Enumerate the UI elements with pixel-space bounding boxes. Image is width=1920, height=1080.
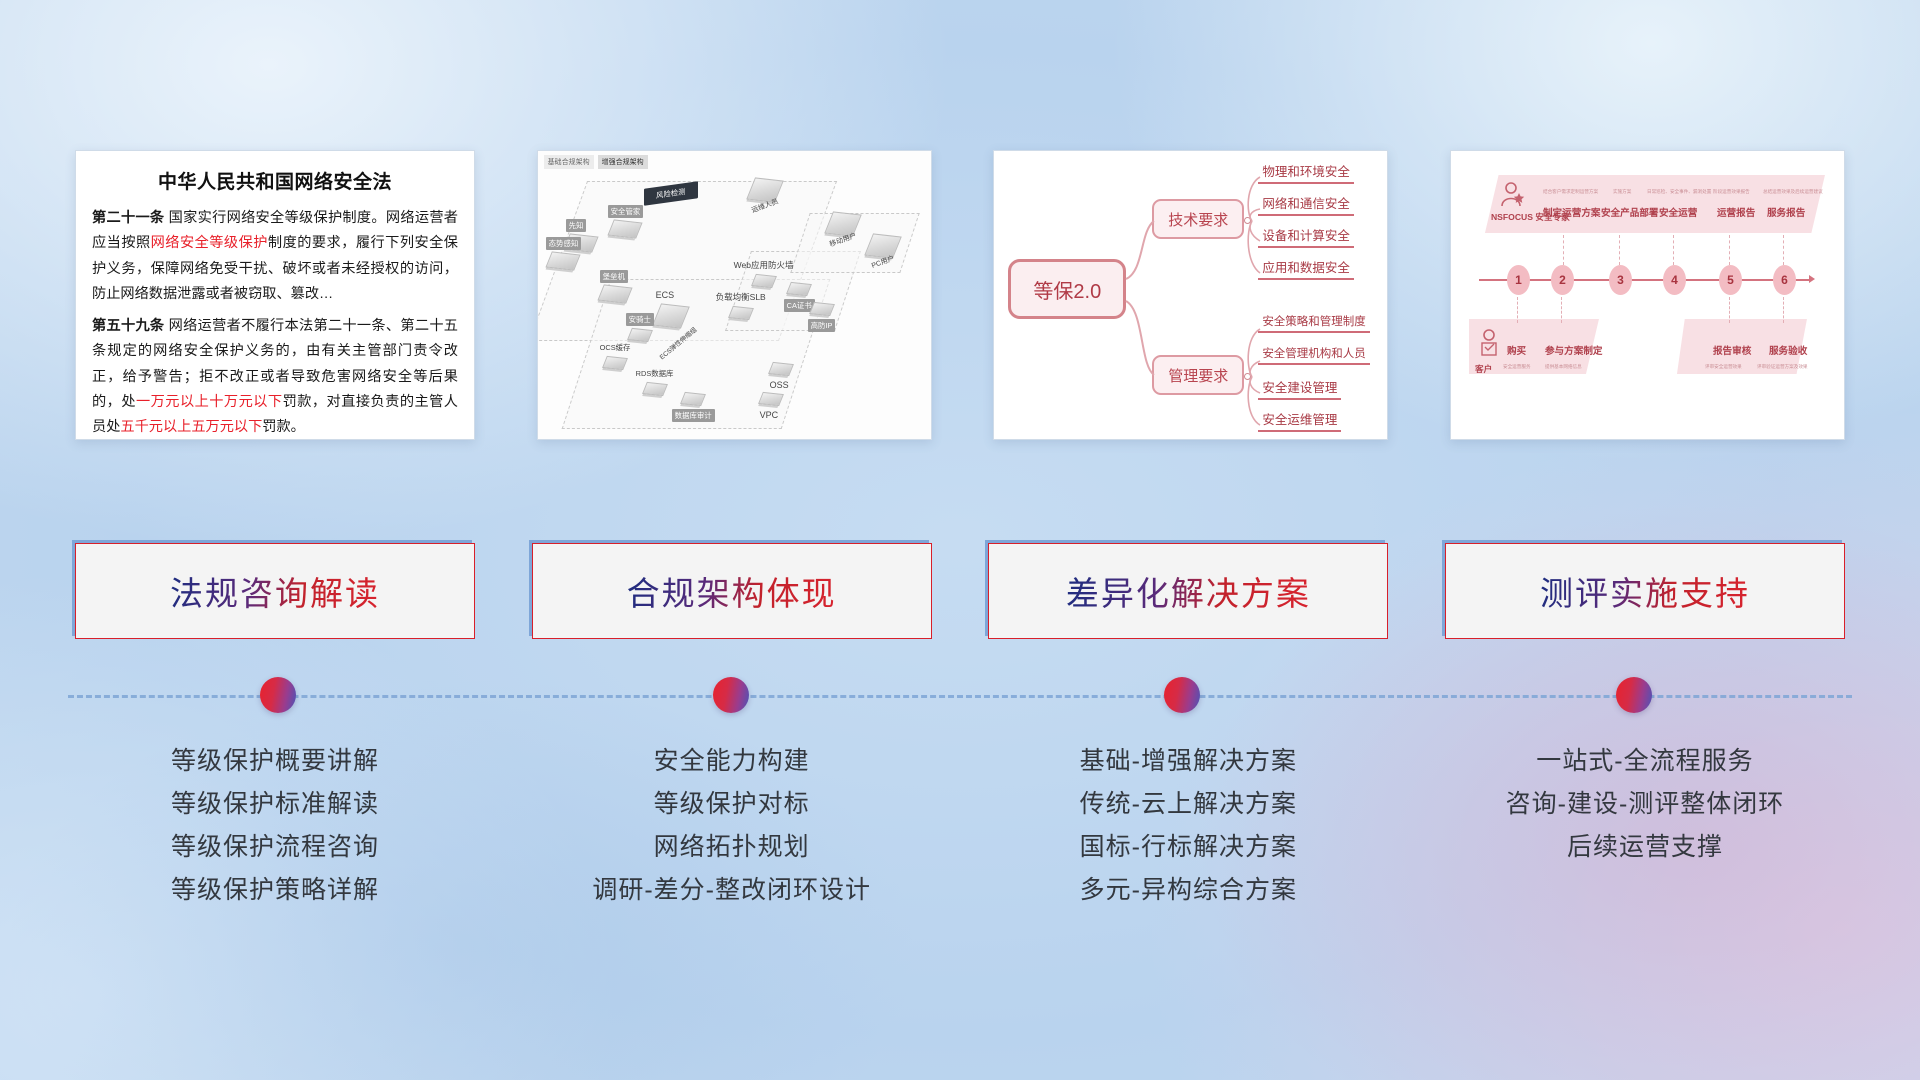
card-dengbao-mindmap: 等保2.0 技术要求 物理和环境安全 网络和通信安全 设备和计算安全 应用和数据… [993, 150, 1388, 440]
list-item: 等级保护概要讲解 [75, 740, 475, 783]
node-label: 态势感知 [546, 237, 582, 250]
list-item: 咨询-建设-测评整体闭环 [1445, 783, 1845, 826]
list-item: 调研-差分-整改闭环设计 [532, 869, 932, 912]
expert-step-sub: 阶段运营效果报告 [1713, 189, 1750, 195]
list-item: 等级保护标准解读 [75, 783, 475, 826]
mindmap-branch-technical: 技术要求 [1152, 199, 1244, 239]
cube-icon [768, 362, 794, 376]
cube-icon [786, 282, 812, 296]
cube-icon [608, 219, 643, 238]
list-item: 后续运营支撑 [1445, 826, 1845, 869]
mindmap-leaf: 安全策略和管理制度 [1258, 313, 1370, 333]
cube-icon [809, 302, 835, 316]
cube-icon [680, 392, 706, 406]
node-risk-detection: 风险检测 [644, 183, 698, 202]
flow-dash-link [1619, 235, 1620, 265]
headline-label: 法规咨询解读 [170, 567, 380, 615]
node-rds-database: RDS数据库 [636, 363, 674, 395]
node-pc-user: PC用户 [868, 233, 898, 267]
timeline-dot-1 [260, 677, 296, 713]
cube-icon [758, 392, 784, 406]
mindmap-leaf: 设备和计算安全 [1258, 225, 1354, 248]
cube-icon [602, 356, 628, 370]
node-label: Web应用防火墙 [734, 259, 794, 271]
customer-step-main: 参与方案制定 [1545, 343, 1603, 357]
headline-box-solution[interactable]: 差异化解决方案 [988, 543, 1388, 639]
headline-box-architecture[interactable]: 合规架构体现 [532, 543, 932, 639]
expert-banner [1485, 175, 1825, 233]
detail-column-row: 等级保护概要讲解 等级保护标准解读 等级保护流程咨询 等级保护策略详解 安全能力… [0, 740, 1920, 912]
node-label: 先知 [566, 219, 587, 232]
media-card-row: 中华人民共和国网络安全法 第二十一条 国家实行网络安全等级保护制度。网络运营者应… [0, 150, 1920, 440]
expert-step-main: 服务报告 [1767, 205, 1805, 219]
expert-step-sub: 日常巡检、安全事件、漏洞处置 [1647, 189, 1711, 195]
customer-step-main: 报告审核 [1713, 343, 1751, 357]
detail-column-architecture: 安全能力构建 等级保护对标 网络拓扑规划 调研-差分-整改闭环设计 [532, 740, 932, 912]
mindmap-leaf: 应用和数据安全 [1258, 257, 1354, 280]
node-label: 堡垒机 [600, 270, 628, 283]
node-label: OCS缓存 [600, 342, 631, 353]
flow-step-node: 3 [1609, 265, 1632, 295]
node-anti-ddos-ip: 高防IP [808, 301, 836, 333]
timeline [68, 694, 1852, 697]
flow-step-node: 4 [1663, 265, 1686, 295]
card-nsfocus-service-flow: NSFOCUS 安全专家 结合客户需求定制运营方案 制定运营方案 实施方案 安全… [1450, 150, 1845, 440]
law-run-highlight: 五千元以上五万元以下 [120, 419, 262, 435]
expert-step-main: 运营报告 [1717, 205, 1755, 219]
list-item: 传统-云上解决方案 [988, 783, 1388, 826]
card-cybersecurity-law: 中华人民共和国网络安全法 第二十一条 国家实行网络安全等级保护制度。网络运营者应… [75, 150, 475, 440]
cube-icon [627, 328, 653, 342]
mindmap-leaf: 安全管理机构和人员 [1258, 345, 1370, 365]
timeline-dot-3 [1164, 677, 1200, 713]
flow-axis-arrow [1809, 275, 1815, 283]
node-label: VPC [760, 410, 779, 420]
mindmap-connector-dot [1244, 217, 1251, 224]
cube-icon [728, 306, 754, 320]
mindmap-leaf: 安全建设管理 [1258, 377, 1341, 400]
list-item: 等级保护策略详解 [75, 869, 475, 912]
node-label: 负载均衡SLB [716, 291, 766, 303]
customer-person-icon [1475, 327, 1509, 365]
architecture-tabs: 基础合规架构 增强合规架构 [544, 155, 648, 169]
customer-step-main: 购买 [1507, 343, 1526, 357]
list-item: 基础-增强解决方案 [988, 740, 1388, 783]
node-label: 安全管家 [608, 205, 644, 218]
node-vpc: VPC [760, 391, 782, 423]
node-label: RDS数据库 [636, 368, 674, 379]
mindmap-connector-dot [1244, 373, 1251, 380]
expert-step-sub: 结合客户需求定制运营方案 [1543, 189, 1598, 195]
cube-icon [597, 284, 632, 303]
list-item: 一站式-全流程服务 [1445, 740, 1845, 783]
list-item: 国标-行标解决方案 [988, 826, 1388, 869]
detail-column-regulation: 等级保护概要讲解 等级保护标准解读 等级保护流程咨询 等级保护策略详解 [75, 740, 475, 912]
flow-dash-link [1517, 297, 1518, 323]
law-paragraph-1: 第二十一条 国家实行网络安全等级保护制度。网络运营者应当按照网络安全等级保护制度… [92, 206, 458, 307]
flow-dash-link [1561, 297, 1562, 323]
node-slb: 负载均衡SLB [716, 287, 766, 319]
mindmap-root: 等保2.0 [1008, 259, 1126, 319]
node-mobile-user: 移动用户 [828, 211, 858, 245]
node-ecs: ECS [656, 285, 686, 327]
node-label: 数据库审计 [672, 409, 715, 422]
timeline-dot-4 [1616, 677, 1652, 713]
expert-step-main: 制定运营方案 [1543, 205, 1601, 219]
mindmap-branch-management: 管理要求 [1152, 355, 1244, 395]
tab-enhanced-architecture[interactable]: 增强合规架构 [598, 155, 648, 169]
list-item: 安全能力构建 [532, 740, 932, 783]
node-label: ECS [656, 290, 675, 300]
headline-label: 差异化解决方案 [1066, 567, 1311, 615]
customer-step-sub: 提供基本网络信息 [1545, 364, 1582, 370]
law-paragraph-2: 第五十九条 网络运营者不履行本法第二十一条、第二十五条规定的网络安全保护义务的，… [92, 314, 458, 440]
customer-step-main: 服务验收 [1769, 343, 1807, 357]
detail-column-solution: 基础-增强解决方案 传统-云上解决方案 国标-行标解决方案 多元-异构综合方案 [988, 740, 1388, 912]
cube-icon [751, 274, 777, 288]
node-label: 安骑士 [626, 313, 654, 326]
flow-dash-link [1563, 235, 1564, 265]
list-item: 等级保护对标 [532, 783, 932, 826]
node-bastion-host: 堡垒机 [600, 266, 630, 302]
customer-step-sub: 安全运营服务 [1503, 364, 1531, 370]
flow-step-node: 5 [1719, 265, 1742, 295]
list-item: 等级保护流程咨询 [75, 826, 475, 869]
customer-step-sub: 评审安全运营效果 [1705, 364, 1742, 370]
cube-icon [546, 251, 581, 270]
flow-step-node: 1 [1507, 265, 1530, 295]
node-label: OSS [770, 380, 789, 390]
flow-dash-link [1783, 235, 1784, 265]
law-run-highlight: 网络安全等级保护 [151, 235, 268, 251]
expert-step-sub: 总结运营效果及后续运营建议 [1763, 189, 1823, 195]
customer-step-sub: 评审验证运营方案及效果 [1757, 364, 1808, 370]
cube-icon [642, 382, 668, 396]
expert-step-main: 安全产品部署 [1601, 205, 1659, 219]
timeline-line [68, 695, 1852, 698]
law-article-label: 第二十一条 [92, 210, 164, 226]
mindmap-leaf: 网络和通信安全 [1258, 193, 1354, 216]
node-operations-staff: 运维人员 [750, 177, 780, 211]
headline-label: 合规架构体现 [627, 567, 837, 615]
headline-row: 法规咨询解读 合规架构体现 差异化解决方案 测评实施支持 [0, 543, 1920, 639]
law-article-label: 第五十九条 [92, 318, 164, 334]
node-ocs-cache: OCS缓存 [600, 337, 631, 369]
node-security-butler: 安全管家 [608, 201, 644, 237]
customer-role-label: 客户 [1475, 363, 1492, 375]
list-item: 多元-异构综合方案 [988, 869, 1388, 912]
card-compliance-architecture: 基础合规架构 增强合规架构 风险检测 安全管家 先知 态势感知 堡垒机 ECS … [537, 150, 932, 440]
tab-basic-architecture[interactable]: 基础合规架构 [544, 155, 594, 169]
headline-box-regulation[interactable]: 法规咨询解读 [75, 543, 475, 639]
expert-step-main: 安全运营 [1659, 205, 1697, 219]
mindmap-leaf: 物理和环境安全 [1258, 161, 1354, 184]
law-run: 罚款。 [262, 419, 305, 435]
detail-column-evaluation: 一站式-全流程服务 咨询-建设-测评整体闭环 后续运营支撑 [1445, 740, 1845, 912]
expert-step-sub: 实施方案 [1613, 189, 1631, 195]
node-situation-awareness: 态势感知 [546, 233, 582, 269]
mindmap-leaf: 安全运维管理 [1258, 409, 1341, 432]
law-run-highlight: 一万元以上十万元以下 [136, 394, 283, 410]
node-oss: OSS [770, 361, 792, 393]
flow-dash-link [1729, 297, 1730, 323]
flow-dash-link [1729, 235, 1730, 265]
headline-box-evaluation[interactable]: 测评实施支持 [1445, 543, 1845, 639]
flow-dash-link [1783, 297, 1784, 323]
flow-dash-link [1673, 235, 1674, 265]
node-label: 高防IP [808, 319, 836, 332]
timeline-dot-2 [713, 677, 749, 713]
list-item: 网络拓扑规划 [532, 826, 932, 869]
headline-label: 测评实施支持 [1540, 567, 1750, 615]
law-title: 中华人民共和国网络安全法 [92, 167, 458, 194]
node-database-audit: 数据库审计 [672, 391, 715, 423]
flow-step-node: 2 [1551, 265, 1574, 295]
flow-step-node: 6 [1773, 265, 1796, 295]
